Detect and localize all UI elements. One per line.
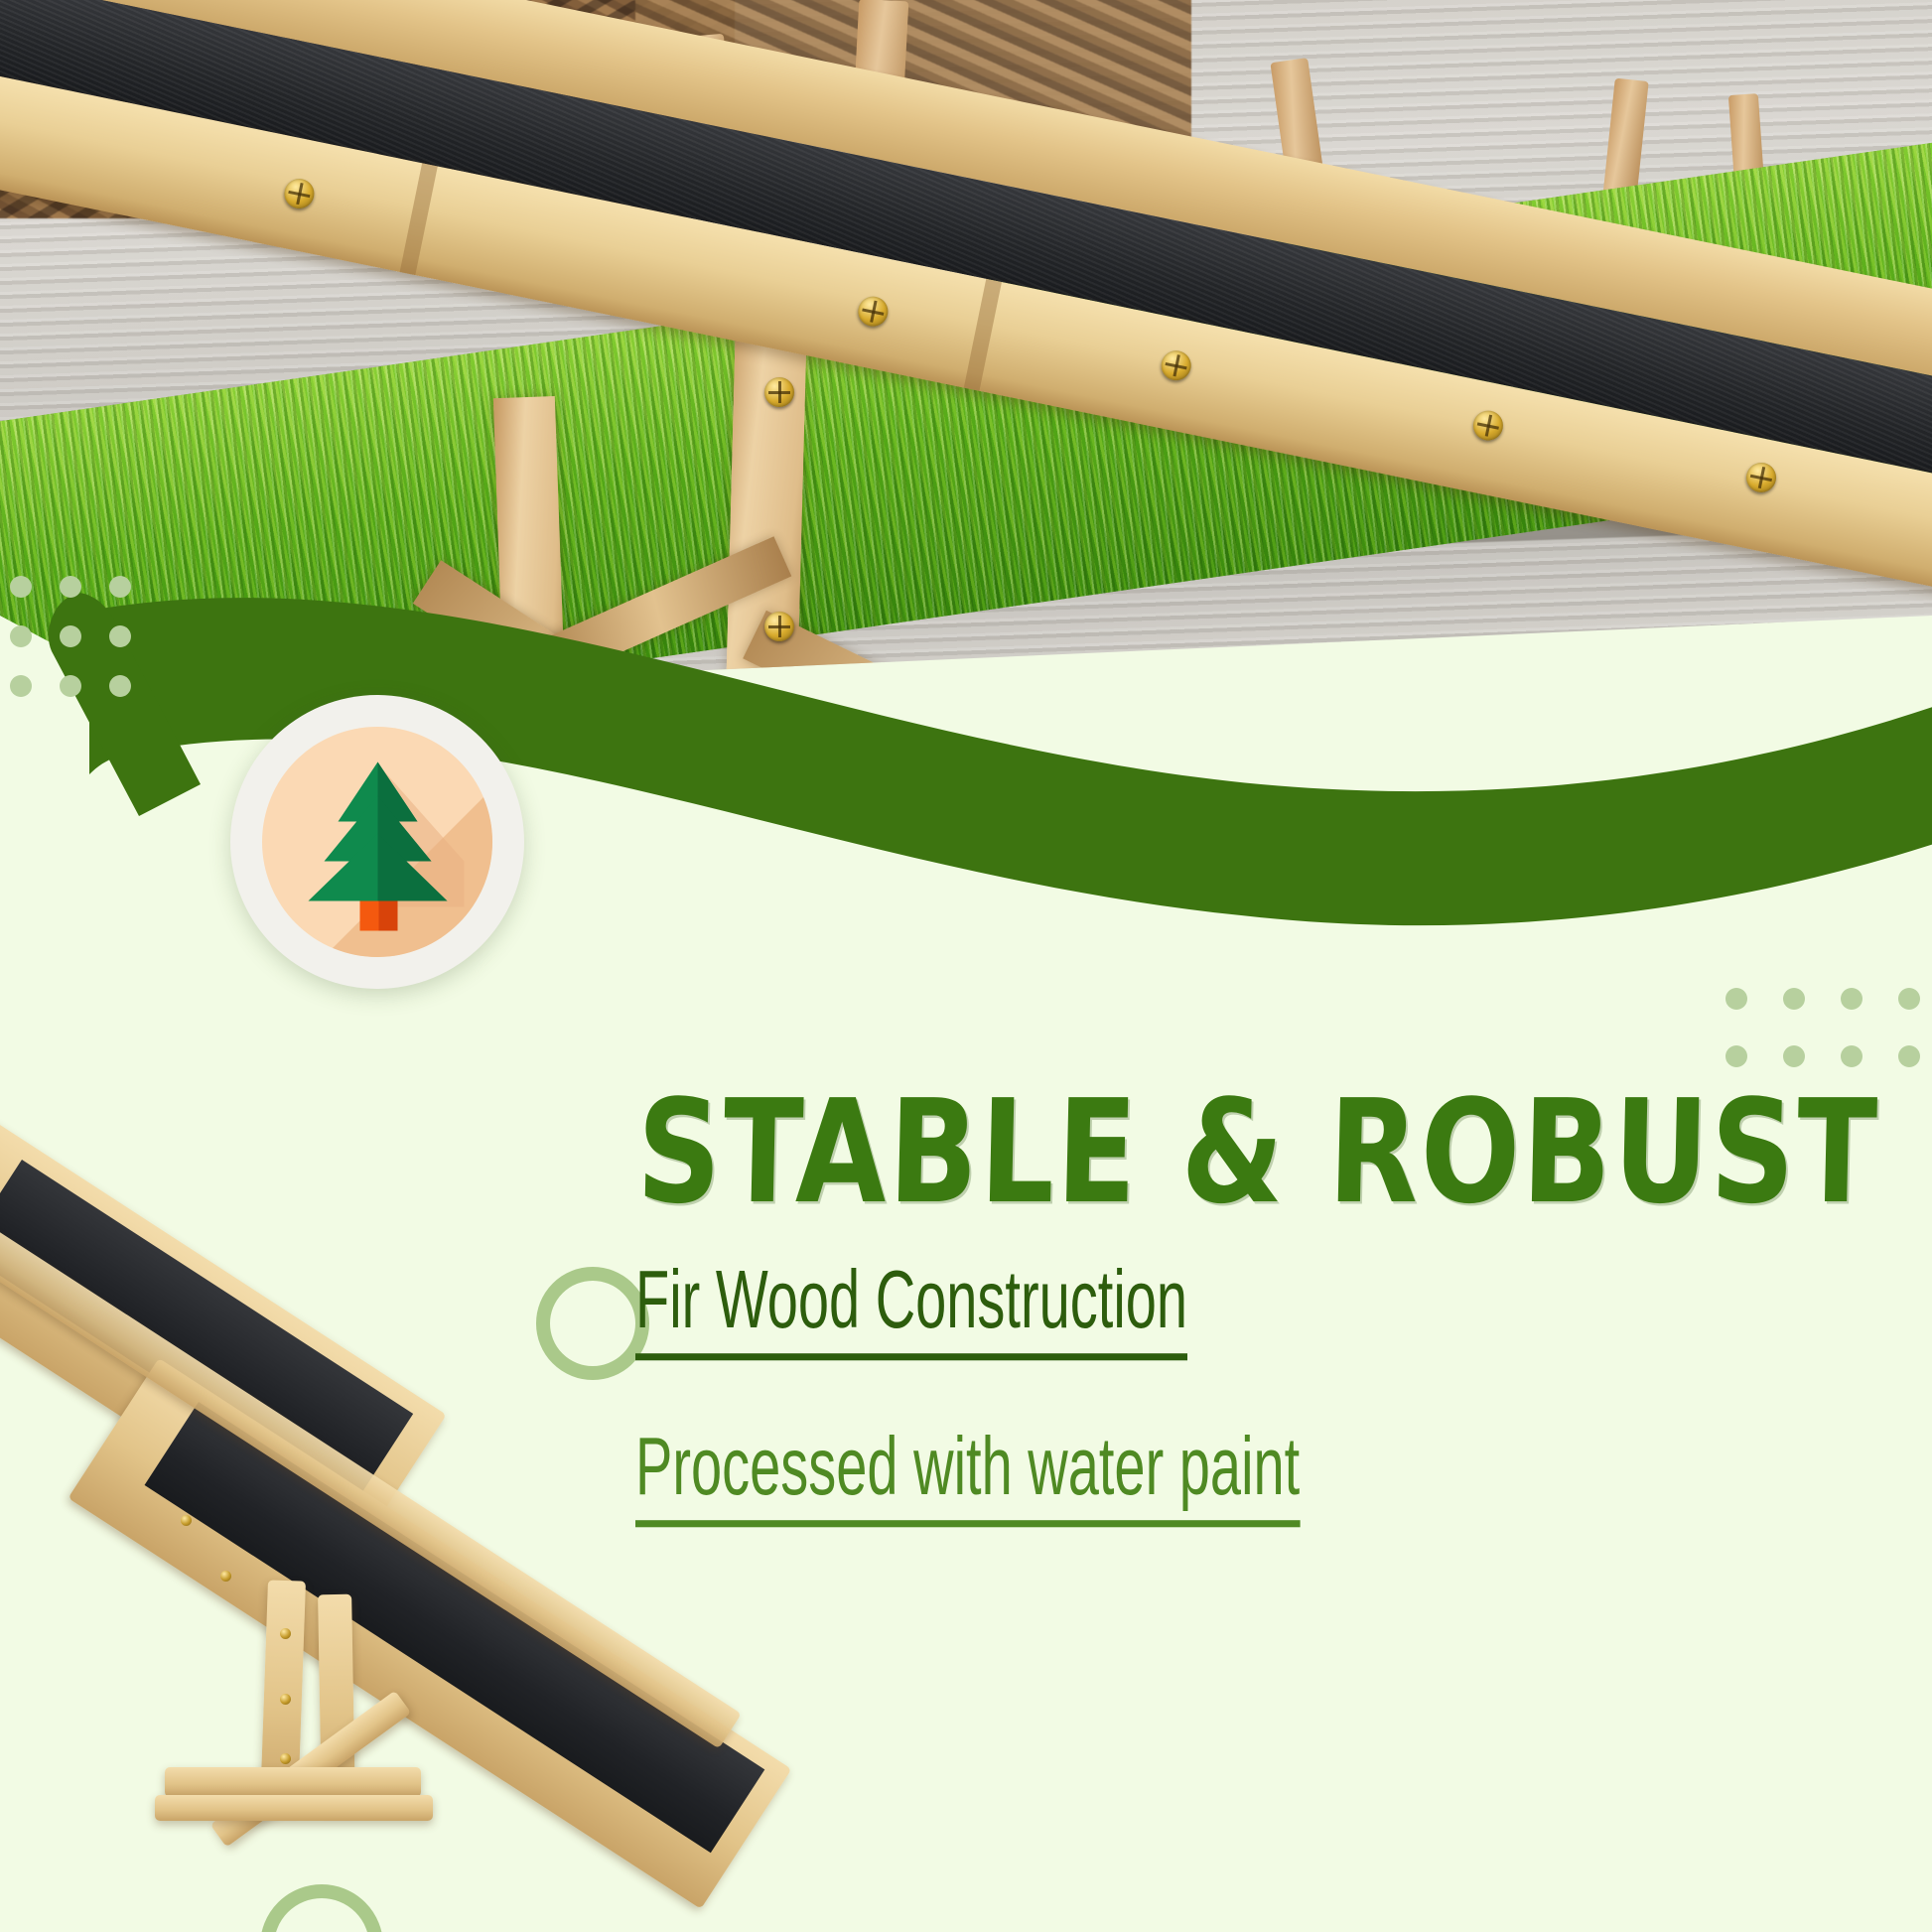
decor-dot (60, 675, 81, 697)
feature-line-2: Processed with water paint (635, 1420, 1300, 1528)
base-foot (155, 1795, 433, 1821)
brass-screw (280, 1753, 291, 1764)
decor-dot (60, 625, 81, 647)
banner-canvas: STABLE & ROBUST Fir Wood Construction Pr… (0, 0, 1932, 1932)
decor-dot (60, 576, 81, 598)
brass-screw (280, 1628, 291, 1639)
decor-dot (109, 625, 131, 647)
brass-screw (181, 1515, 192, 1526)
decor-dot (10, 625, 32, 647)
dot-grid-left (10, 576, 131, 697)
brass-screw (280, 1694, 291, 1705)
decor-dot (10, 675, 32, 697)
pine-tree-icon (291, 751, 465, 934)
fir-wood-badge (230, 695, 524, 989)
decor-dot (109, 675, 131, 697)
base-brace (165, 1767, 421, 1797)
brass-screw (764, 612, 794, 641)
decor-dot (109, 576, 131, 598)
feature-line-1: Fir Wood Construction (635, 1253, 1187, 1361)
page-title: STABLE & ROBUST (635, 1080, 1880, 1223)
badge-inner-circle (262, 727, 492, 957)
brass-screw (220, 1571, 231, 1582)
marketing-text-block: STABLE & ROBUST Fir Wood Construction Pr… (635, 993, 1916, 1557)
decor-dot (10, 576, 32, 598)
